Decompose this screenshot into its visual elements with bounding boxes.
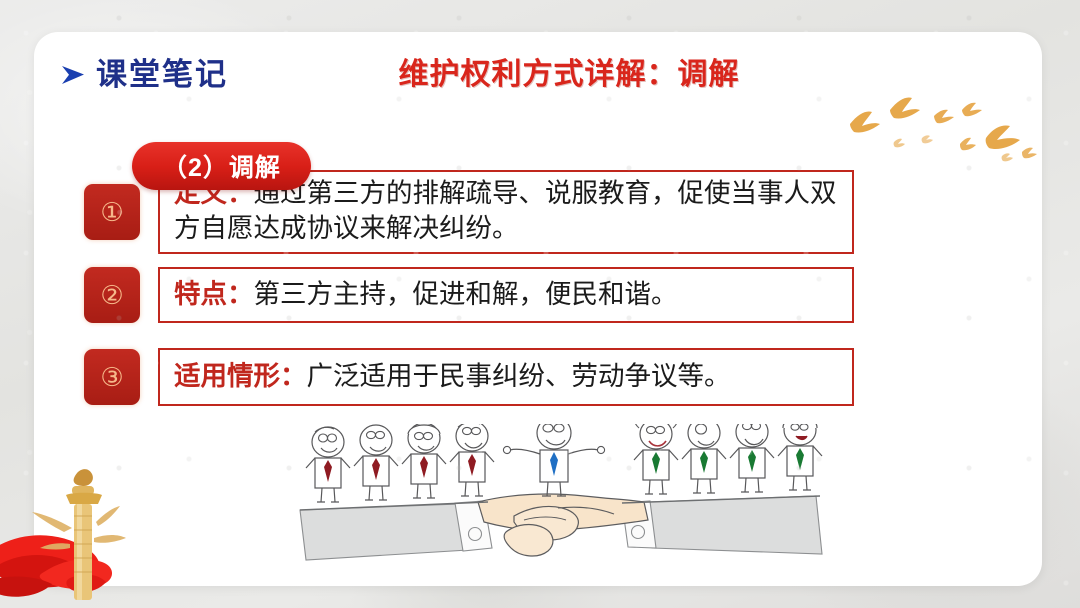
content-box: 特点：第三方主持，促进和解，便民和谐。 <box>158 267 854 323</box>
row-number-badge: ① <box>84 184 140 240</box>
content-row: ③ 适用情形：广泛适用于民事纠纷、劳动争议等。 <box>84 348 854 406</box>
handshake-mediation-illustration <box>292 424 832 586</box>
notes-label: 课堂笔记 <box>96 59 228 90</box>
content-text: 适用情形：广泛适用于民事纠纷、劳动争议等。 <box>174 359 731 395</box>
row-number-badge: ② <box>84 267 140 323</box>
right-arm <box>622 496 822 554</box>
left-arm <box>300 501 492 560</box>
row-number-badge: ③ <box>84 349 140 405</box>
content-label: 特点： <box>174 279 254 309</box>
content-body: 广泛适用于民事纠纷、劳动争议等。 <box>307 361 731 391</box>
right-figure-group <box>634 424 822 494</box>
mediator-figure <box>503 424 604 496</box>
triangle-arrow-icon <box>60 63 86 87</box>
slide-root: 课堂笔记 维护权利方式详解：调解 （2）调解 ① <box>0 0 1080 608</box>
content-body: 第三方主持，促进和解，便民和谐。 <box>254 279 678 309</box>
content-label: 适用情形： <box>174 361 307 391</box>
content-text: 特点：第三方主持，促进和解，便民和谐。 <box>174 277 678 313</box>
content-box: 适用情形：广泛适用于民事纠纷、劳动争议等。 <box>158 348 854 406</box>
torch-ribbon-ornament <box>0 452 190 608</box>
content-row: ② 特点：第三方主持，促进和解，便民和谐。 <box>84 267 854 323</box>
notes-heading: 课堂笔记 <box>60 59 228 90</box>
flying-birds-icon <box>834 80 1042 170</box>
left-figure-group <box>306 424 494 502</box>
page-title: 维护权利方式详解：调解 <box>334 59 804 91</box>
section-badge: （2）调解 <box>132 142 311 190</box>
